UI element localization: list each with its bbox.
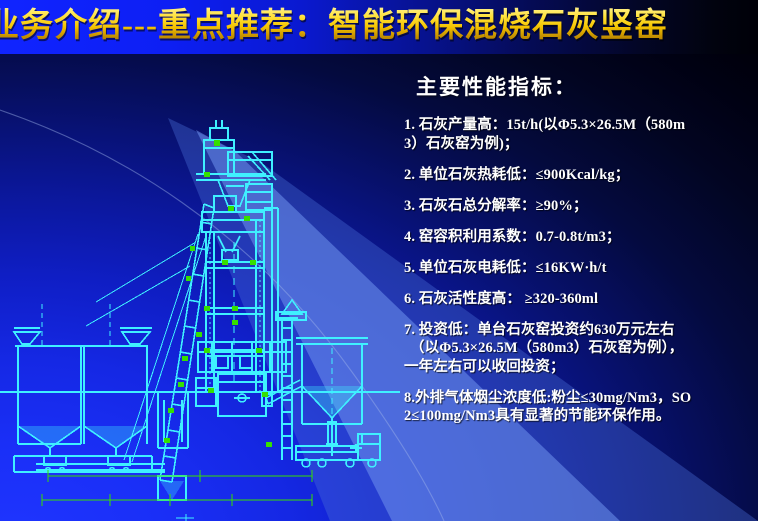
spec-4-line-1: 4. 窑容积利用系数：0.7-0.8t/m3； — [404, 228, 754, 247]
cad-canvas — [0, 56, 400, 521]
spec-item-8: 8.外排气体烟尘浓度低:粉尘≤30mg/Nm3，SO 2≤100mg/Nm3具有… — [404, 389, 754, 426]
spec-7-line-1: 7. 投资低：单台石灰窑投资约630万元左右 — [404, 321, 754, 340]
spec-item-3: 3. 石灰石总分解率：≥90%； — [404, 197, 754, 216]
spec-8-line-2: 2≤100mg/Nm3具有显著的节能环保作用。 — [404, 407, 754, 426]
spec-7-line-3: 一年左右可以收回投资； — [404, 358, 754, 377]
spec-1-line-2: 3）石灰窑为例)； — [404, 135, 754, 154]
spec-8-line-1: 8.外排气体烟尘浓度低:粉尘≤30mg/Nm3，SO — [404, 389, 754, 408]
loading-truck — [296, 434, 380, 467]
spec-7-line-2: （以Φ5.3×26.5M（580m3）石灰窑为例）， — [404, 339, 754, 358]
raw-material-silo-right — [84, 346, 147, 456]
spec-5-line-1: 5. 单位石灰电耗低：≤16KW·h/t — [404, 259, 754, 278]
spec-item-5: 5. 单位石灰电耗低：≤16KW·h/t — [404, 259, 754, 278]
spec-3-line-1: 3. 石灰石总分解率：≥90%； — [404, 197, 754, 216]
slide-canvas: 业务介绍---重点推荐：智能环保混烧石灰竖窑 — [0, 0, 758, 521]
left-support-posts — [42, 304, 110, 346]
performance-specs-panel: 主要性能指标： 1. 石灰产量高：15t/h(以Φ5.3×26.5M（580m … — [402, 62, 754, 512]
caption-underline — [176, 514, 194, 521]
specs-heading: 主要性能指标： — [416, 74, 754, 100]
spec-1-line-1: 1. 石灰产量高：15t/h(以Φ5.3×26.5M（580m — [404, 116, 754, 135]
slide-title-band: 业务介绍---重点推荐：智能环保混烧石灰竖窑 — [0, 0, 758, 54]
spec-2-line-1: 2. 单位石灰热耗低：≤900Kcal/kg； — [404, 166, 754, 185]
spec-item-7: 7. 投资低：单台石灰窑投资约630万元左右 （以Φ5.3×26.5M（580m… — [404, 321, 754, 377]
spec-item-1: 1. 石灰产量高：15t/h(以Φ5.3×26.5M（580m 3）石灰窑为例)… — [404, 116, 754, 153]
spec-item-2: 2. 单位石灰热耗低：≤900Kcal/kg； — [404, 166, 754, 185]
spec-item-4: 4. 窑容积利用系数：0.7-0.8t/m3； — [404, 228, 754, 247]
left-feeder-hopper — [14, 328, 152, 344]
spec-item-6: 6. 石灰活性度高： ≥320-360ml — [404, 290, 754, 309]
belt-conveyor-under-silos — [36, 456, 165, 472]
process-flow-drawing — [0, 56, 400, 521]
spec-6-line-1: 6. 石灰活性度高： ≥320-360ml — [404, 290, 754, 309]
vertical-lime-kiln-tower — [206, 208, 278, 392]
page-title: 业务介绍---重点推荐：智能环保混烧石灰竖窑 — [0, 4, 668, 48]
